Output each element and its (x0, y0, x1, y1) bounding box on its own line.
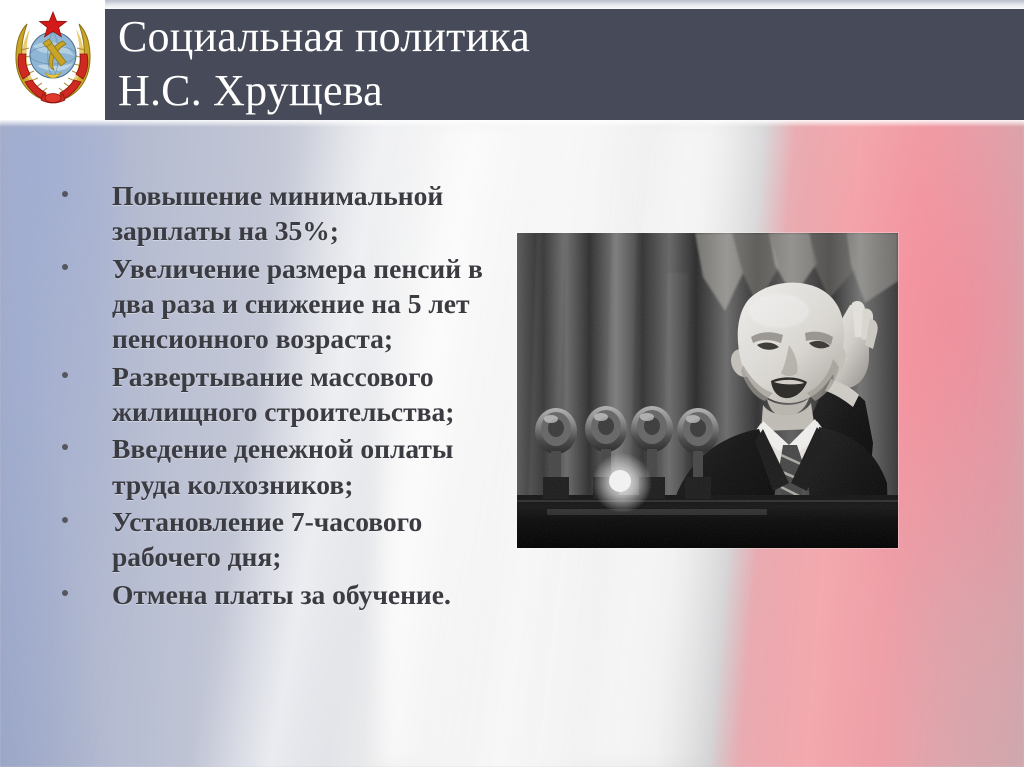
bullet-dot-icon (62, 191, 68, 197)
list-item: Отмена платы за обучение. (46, 577, 516, 612)
top-edge-strip (0, 0, 1024, 9)
bullet-list: Повышение минимальной зарплаты на 35%; У… (46, 178, 516, 614)
list-item: Развертывание массового жилищного строит… (46, 359, 516, 430)
list-item: Повышение минимальной зарплаты на 35%; (46, 178, 516, 249)
ussr-emblem-icon (7, 10, 99, 110)
bullet-dot-icon (62, 264, 68, 270)
khrushchev-photo (517, 233, 898, 548)
list-item-label: Введение денежной оплаты труда колхозник… (112, 433, 453, 499)
list-item-label: Повышение минимальной зарплаты на 35%; (112, 180, 443, 246)
list-item: Введение денежной оплаты труда колхозник… (46, 431, 516, 502)
list-item: Установление 7-часового рабочего дня; (46, 504, 516, 575)
list-item-label: Отмена платы за обучение. (112, 579, 451, 610)
emblem-panel (0, 0, 105, 120)
bullet-dot-icon (62, 590, 68, 596)
bullet-dot-icon (62, 517, 68, 523)
list-item-label: Увеличение размера пенсий в два раза и с… (112, 253, 483, 355)
list-item-label: Развертывание массового жилищного строит… (112, 361, 454, 427)
list-item-label: Установление 7-часового рабочего дня; (112, 506, 422, 572)
page-title: Социальная политика Н.С. Хрущева (118, 10, 998, 117)
presentation-slide: Социальная политика Н.С. Хрущева Повышен… (0, 0, 1024, 767)
bullet-dot-icon (62, 372, 68, 378)
list-item: Увеличение размера пенсий в два раза и с… (46, 251, 516, 357)
bullet-dot-icon (62, 444, 68, 450)
